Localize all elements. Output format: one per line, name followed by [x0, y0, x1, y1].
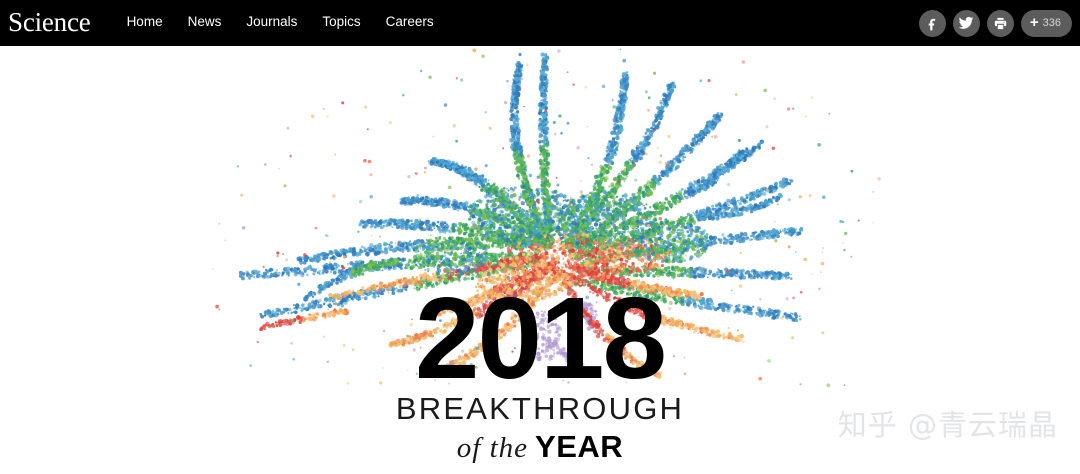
- share-print-button[interactable]: [987, 10, 1014, 37]
- twitter-icon: [958, 15, 974, 31]
- share-facebook-button[interactable]: [919, 10, 946, 37]
- print-icon: [993, 16, 1008, 31]
- site-logo-science[interactable]: Science: [0, 9, 91, 36]
- hero-banner: 2018 BREAKTHROUGH of theYEAR 知乎 @青云瑞晶: [0, 46, 1080, 474]
- nav-item-careers[interactable]: Careers: [386, 15, 434, 29]
- nav-item-home[interactable]: Home: [127, 15, 163, 29]
- share-more-count-button[interactable]: + 336: [1021, 10, 1072, 37]
- nav-item-journals[interactable]: Journals: [246, 15, 297, 29]
- plus-icon: +: [1030, 15, 1039, 30]
- share-count-label: 336: [1043, 18, 1061, 29]
- nav-item-topics[interactable]: Topics: [322, 15, 360, 29]
- site-header: Science Home News Journals Topics Career…: [0, 0, 1080, 46]
- zhihu-watermark: 知乎 @青云瑞晶: [838, 402, 1058, 444]
- share-twitter-button[interactable]: [953, 10, 980, 37]
- share-button-group: + 336: [919, 0, 1072, 46]
- main-navigation: Home News Journals Topics Careers: [127, 15, 434, 29]
- nav-item-news[interactable]: News: [188, 15, 222, 29]
- page-root: Science Home News Journals Topics Career…: [0, 0, 1080, 474]
- facebook-icon: [925, 16, 940, 31]
